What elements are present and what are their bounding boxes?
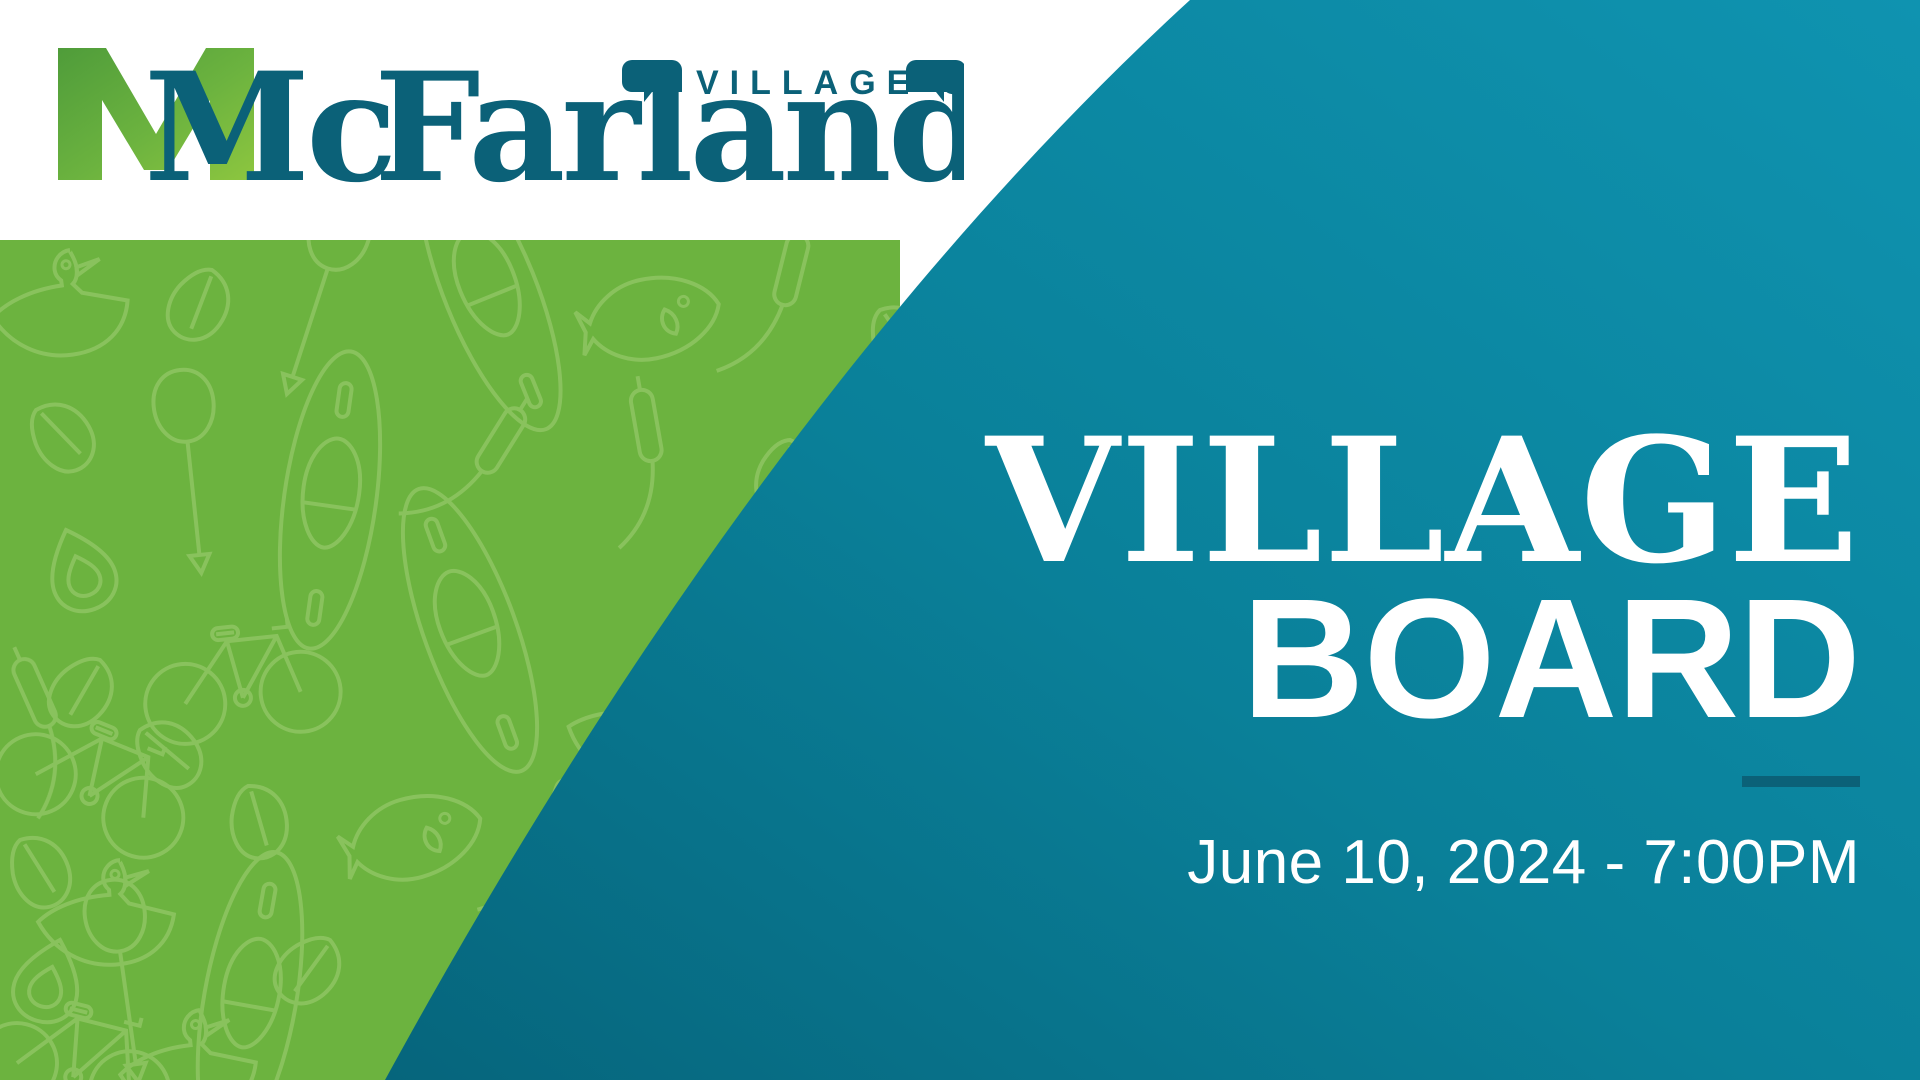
village-board-banner: Mc Farland VILLAGE OF VILLAGE BOARD June… (0, 0, 1920, 1080)
mcfarland-logo[interactable]: Mc Farland VILLAGE OF (44, 30, 964, 200)
event-date-time: June 10, 2024 - 7:00PM (800, 827, 1860, 898)
outdoor-icon-pattern-panel (0, 240, 900, 1080)
logo-header-band: Mc Farland VILLAGE OF (0, 0, 880, 240)
title-divider-rule (1742, 776, 1860, 787)
logo-graphic: Mc Farland VILLAGE OF (44, 30, 964, 200)
page-title-line-2: BOARD (800, 574, 1860, 744)
page-title-line-1: VILLAGE (800, 420, 1860, 582)
hero-title-block: VILLAGE BOARD June 10, 2024 - 7:00PM (800, 420, 1860, 898)
svg-text:Mc: Mc (144, 40, 393, 200)
pattern-graphic (0, 240, 900, 1080)
